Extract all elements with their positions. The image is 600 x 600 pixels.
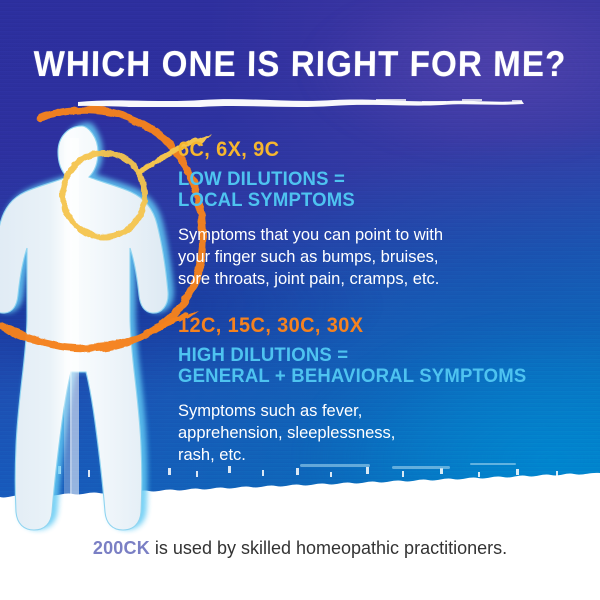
body-low-line-2: your finger such as bumps, bruises, bbox=[178, 246, 578, 268]
subheading-high-line-2: GENERAL + BEHAVIORAL SYMPTOMS bbox=[178, 366, 558, 387]
dose-label-low: 6C, 6X, 9C bbox=[178, 138, 558, 162]
body-high-line-1: Symptoms such as fever, bbox=[178, 400, 578, 422]
page-title: WHICH ONE IS RIGHT FOR ME? bbox=[24, 44, 577, 84]
figure-center-highlight-soft bbox=[64, 138, 72, 530]
body-low-line-1: Symptoms that you can point to with bbox=[178, 224, 578, 246]
brush-underline-icon bbox=[76, 96, 526, 107]
infographic-poster: WHICH ONE IS RIGHT FOR ME? 6C, 6X, 9C LO… bbox=[0, 0, 600, 600]
body-text-low: Symptoms that you can point to with your… bbox=[178, 224, 578, 290]
body-low-line-3: sore throats, joint pain, cramps, etc. bbox=[178, 268, 578, 290]
section-low-dilutions: 6C, 6X, 9C LOW DILUTIONS = LOCAL SYMPTOM… bbox=[178, 138, 578, 290]
dose-label-high: 12C, 15C, 30C, 30X bbox=[178, 314, 558, 338]
headline-group: WHICH ONE IS RIGHT FOR ME? bbox=[0, 44, 600, 84]
footer-keyword: 200CK bbox=[93, 538, 150, 558]
body-text-high: Symptoms such as fever, apprehension, sl… bbox=[178, 400, 578, 466]
subheading-low-line-1: LOW DILUTIONS = bbox=[178, 169, 558, 190]
footer-note: 200CK is used by skilled homeopathic pra… bbox=[0, 536, 600, 560]
subheading-low: LOW DILUTIONS = LOCAL SYMPTOMS bbox=[178, 169, 558, 211]
body-high-line-2: apprehension, sleeplessness, bbox=[178, 422, 578, 444]
human-body-silhouette-svg bbox=[0, 118, 196, 538]
subheading-high: HIGH DILUTIONS = GENERAL + BEHAVIORAL SY… bbox=[178, 345, 558, 387]
section-high-dilutions: 12C, 15C, 30C, 30X HIGH DILUTIONS = GENE… bbox=[178, 314, 578, 466]
human-figure bbox=[0, 118, 196, 538]
footer-text: is used by skilled homeopathic practitio… bbox=[150, 538, 507, 558]
subheading-high-line-1: HIGH DILUTIONS = bbox=[178, 345, 558, 366]
subheading-low-line-2: LOCAL SYMPTOMS bbox=[178, 190, 558, 211]
body-high-line-3: rash, etc. bbox=[178, 444, 578, 466]
